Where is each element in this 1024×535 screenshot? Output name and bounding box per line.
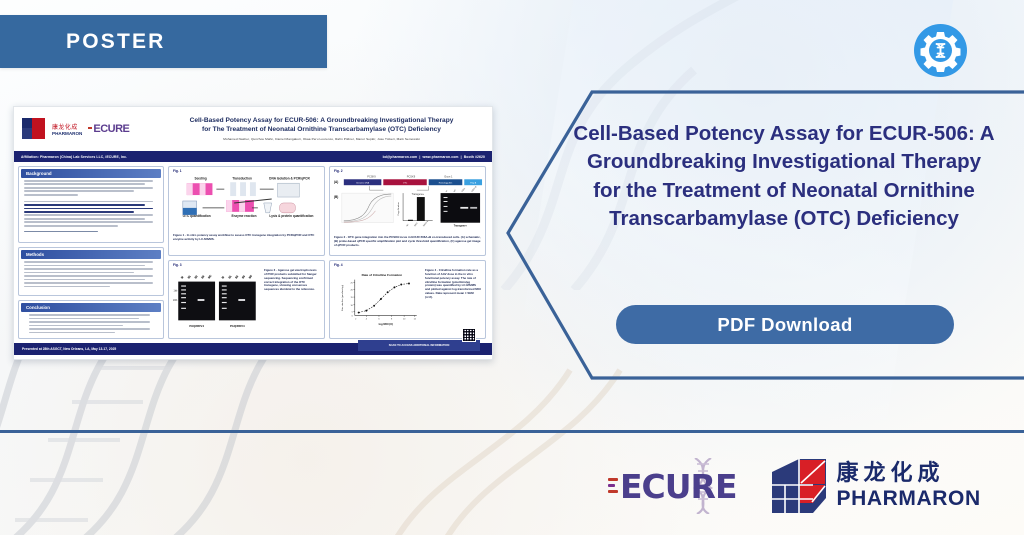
svg-text:(B): (B) xyxy=(334,195,338,199)
gear-dna-icon xyxy=(913,23,968,78)
svg-text:Transduction: Transduction xyxy=(232,176,252,180)
svg-text:Rate citrulline (pmol/min/µg): Rate citrulline (pmol/min/µg) xyxy=(341,284,344,311)
poster-column-right: Fig. 2 PCSK9PCSK9Exon 1 (A) Genomic DNAO… xyxy=(329,166,486,339)
poster-footer-text: Presented at 28th ASGCT, New Orleans, LA… xyxy=(22,347,116,351)
poster-body: Background Methods Co xyxy=(14,162,492,343)
svg-text:NC: NC xyxy=(208,274,213,279)
poster-affiliation-bar: Affiliation: Pharmaron (China) Lab Servi… xyxy=(14,151,492,162)
poster-figure-3: Fig. 3 M S1 S2 S3 NC M xyxy=(168,260,325,339)
pharmaron-wordmark: 康龙化成 PHARMARON xyxy=(837,463,981,509)
svg-text:0: 0 xyxy=(352,315,354,317)
svg-text:log MOI (X): log MOI (X) xyxy=(379,322,393,326)
pharmaron-en-wordmark: PHARMARON xyxy=(837,488,981,509)
svg-text:Copy Number: Copy Number xyxy=(397,202,400,216)
svg-text:OTC: OTC xyxy=(403,183,408,185)
poster-figure-3-gel: M S1 S2 S3 NC M S1 S2 S3 NC xyxy=(173,269,261,331)
poster-section-text xyxy=(19,261,163,290)
svg-text:S3: S3 xyxy=(201,274,206,279)
poster-section-heading: Conclusion xyxy=(21,303,161,312)
poster-affiliation: Affiliation: Pharmaron (China) Lab Servi… xyxy=(21,155,127,159)
svg-text:Lysis & protein quantification: Lysis & protein quantification xyxy=(269,214,313,218)
svg-text:M: M xyxy=(181,276,185,279)
svg-text:5: 5 xyxy=(352,311,354,313)
poster-title-line2: for The Treatment of Neonatal Ornithine … xyxy=(157,126,486,135)
poster-column-middle: Fig. 1 SeedingTransductionDNA Isolation … xyxy=(168,166,325,339)
poster-figure-2: Fig. 2 PCSK9PCSK9Exon 1 (A) Genomic DNAO… xyxy=(329,166,486,256)
pharmaron-logo[interactable]: 康龙化成 PHARMARON xyxy=(771,458,981,514)
svg-text:12: 12 xyxy=(414,318,417,320)
poster-contact-web: www.pharmaron.com xyxy=(422,155,458,159)
svg-text:Enzyme reaction: Enzyme reaction xyxy=(232,214,257,218)
svg-text:(A): (A) xyxy=(334,180,338,184)
pharmaron-cn-text: 康龙化成 xyxy=(52,122,82,131)
pharmaron-wordmark: 康龙化成 PHARMARON xyxy=(52,122,82,137)
poster-figure-caption: Figure 1 - In vitro potency assay workfl… xyxy=(169,232,324,245)
svg-text:S2: S2 xyxy=(235,274,240,279)
poster-figure-caption: Figure 2 - OTC gene integration into the… xyxy=(330,234,485,251)
svg-text:Genomic DNA: Genomic DNA xyxy=(356,182,370,185)
poster-title-block: Cell-Based Potency Assay for ECUR-506: A… xyxy=(157,117,492,141)
poster-contact-booth: Booth #2620 xyxy=(464,155,485,159)
poster-figure-1-graphic: SeedingTransductionDNA Isolation & PCR/q… xyxy=(169,173,324,227)
svg-text:Transgene+: Transgene+ xyxy=(454,225,468,228)
poster-section-background: Background xyxy=(18,166,164,243)
ecure-small-label: ECURE xyxy=(93,123,129,135)
poster-section-heading: Methods xyxy=(21,250,161,259)
svg-text:15: 15 xyxy=(350,297,353,299)
svg-text:M: M xyxy=(221,276,225,279)
svg-text:NC: NC xyxy=(406,223,410,227)
poster-banner: POSTER xyxy=(0,15,327,68)
svg-text:S2: S2 xyxy=(194,274,199,279)
poster-header-logos: 康龙化成 PHARMARON ECURE xyxy=(14,118,157,140)
poster-footer-bar: Presented at 28th ASGCT, New Orleans, LA… xyxy=(14,343,492,355)
page-title-line-3: for the Treatment of Neonatal Ornithine xyxy=(560,177,1008,205)
svg-text:1kb: 1kb xyxy=(174,290,178,292)
poster-section-text xyxy=(19,180,163,235)
svg-text:500b: 500b xyxy=(173,300,178,302)
ecure-dashes-icon xyxy=(608,478,618,498)
ecure-wordmark-small: ECURE xyxy=(88,123,129,135)
poster-section-heading: Background xyxy=(21,169,161,178)
svg-text:Seeding: Seeding xyxy=(194,176,206,180)
svg-text:M: M xyxy=(446,190,449,193)
svg-text:10: 10 xyxy=(403,318,406,320)
svg-text:25: 25 xyxy=(350,282,353,284)
poster-contact: bd@pharmaron.com | www.pharmaron.com | B… xyxy=(383,155,485,159)
svg-text:506A+B: 506A+B xyxy=(471,185,478,193)
poster-authors: Mohamed Nasher, Qunzhou Mahn, Daniel Man… xyxy=(157,137,486,141)
poster-title-line1: Cell-Based Potency Assay for ECUR-506: A… xyxy=(157,117,486,126)
poster-figure-1: Fig. 1 SeedingTransductionDNA Isolation … xyxy=(168,166,325,256)
svg-text:506A: 506A xyxy=(461,187,467,193)
svg-text:NC: NC xyxy=(454,189,458,193)
figure-4-chart-title: Rate of Citrulline Formation xyxy=(362,273,403,277)
bottom-divider xyxy=(0,430,1024,433)
ecure-wordmark: ECURE xyxy=(620,467,737,506)
poster-figure-2-graphic: PCSK9PCSK9Exon 1 (A) Genomic DNAOTCHomol… xyxy=(330,173,485,229)
svg-text:NC: NC xyxy=(248,274,253,279)
svg-text:DNA Isolation & PCR/qPCR: DNA Isolation & PCR/qPCR xyxy=(269,176,310,180)
svg-text:Homology Arm: Homology Arm xyxy=(439,182,453,185)
qr-code-icon xyxy=(462,328,476,342)
svg-text:PAQ/RDV4: PAQ/RDV4 xyxy=(230,324,245,328)
svg-text:PCSK9: PCSK9 xyxy=(407,174,416,178)
svg-text:PAQ/RDV4: PAQ/RDV4 xyxy=(189,324,204,328)
poster-figure-caption: Figure 3 - Agarose gel electrophoresis o… xyxy=(264,269,320,336)
footer-logo-row: ECURE 康龙化成 PHARMARON xyxy=(608,455,981,517)
poster-banner-label: POSTER xyxy=(66,30,166,54)
svg-text:Exon 1: Exon 1 xyxy=(445,174,454,178)
poster-qr-caption: SCAN TO ACCESS ADDITIONAL INFORMATION xyxy=(389,344,450,347)
pdf-download-button[interactable]: PDF Download xyxy=(616,305,954,344)
svg-text:S3: S3 xyxy=(242,274,247,279)
page-title-line-4: Transcarbamylase (OTC) Deficiency xyxy=(560,205,1008,233)
poster-figure-caption: Figure 4 - Citrulline formation rate as … xyxy=(425,269,481,334)
svg-text:20: 20 xyxy=(350,289,353,291)
svg-text:6: 6 xyxy=(378,318,380,320)
poster-figure-4-chart: Rate of Citrulline Formation 0510 xyxy=(334,269,422,329)
ecure-logo[interactable]: ECURE xyxy=(608,463,737,509)
svg-text:506A: 506A xyxy=(413,221,419,227)
svg-text:Poly A: Poly A xyxy=(470,182,476,185)
svg-text:8: 8 xyxy=(391,318,393,320)
poster-section-methods: Methods xyxy=(18,247,164,296)
poster-column-left: Background Methods Co xyxy=(18,166,164,339)
svg-text:PCSK9: PCSK9 xyxy=(367,174,376,178)
pharmaron-mark-icon xyxy=(22,118,46,140)
svg-text:S1: S1 xyxy=(187,274,192,279)
poster-header: 康龙化成 PHARMARON ECURE Cell-Based Potency … xyxy=(14,107,492,151)
pharmaron-mark-icon xyxy=(771,458,827,514)
poster-thumbnail[interactable]: 康龙化成 PHARMARON ECURE Cell-Based Potency … xyxy=(13,106,493,360)
poster-contact-email: bd@pharmaron.com xyxy=(383,155,418,159)
page-title-line-1: Cell-Based Potency Assay for ECUR-506: A xyxy=(560,120,1008,148)
svg-text:S1: S1 xyxy=(228,274,233,279)
svg-text:Transgene+: Transgene+ xyxy=(412,193,425,196)
ecure-dash-icon xyxy=(88,127,92,129)
svg-text:2: 2 xyxy=(355,318,357,320)
pharmaron-en-text: PHARMARON xyxy=(52,131,82,137)
poster-section-conclusion: Conclusion xyxy=(18,300,164,339)
poster-section-text xyxy=(19,314,163,336)
page-title-line-2: Groundbreaking Investigational Therapy xyxy=(560,148,1008,176)
svg-text:4: 4 xyxy=(366,318,368,320)
pharmaron-cn-wordmark: 康龙化成 xyxy=(837,463,981,485)
page-title: Cell-Based Potency Assay for ECUR-506: A… xyxy=(560,120,1008,233)
svg-text:10: 10 xyxy=(350,305,353,307)
